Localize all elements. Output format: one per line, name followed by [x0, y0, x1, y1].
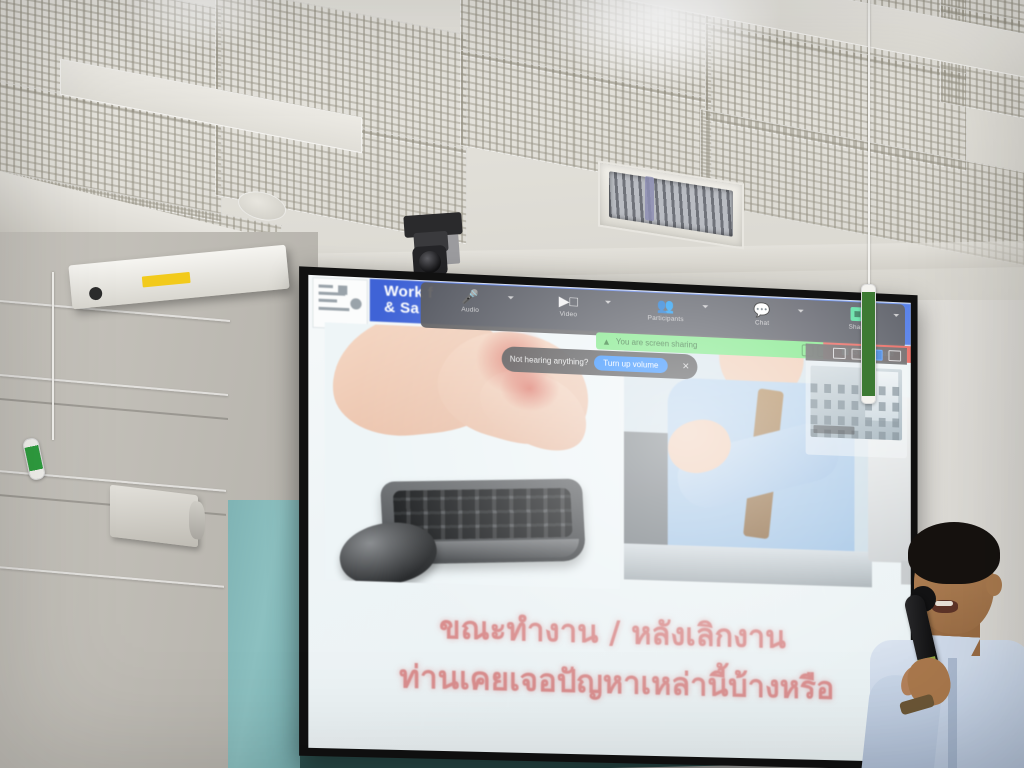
gallery-view-icon[interactable]	[888, 350, 901, 361]
wall-speaker	[110, 485, 198, 548]
chat-icon: 💬	[752, 300, 772, 318]
projector-label	[142, 272, 191, 288]
microphone-icon: 🎤	[460, 287, 480, 305]
chevron-down-icon[interactable]	[507, 296, 513, 299]
tooltip-text: Not hearing anything?	[510, 355, 589, 367]
turn-up-volume-button[interactable]: Turn up volume	[594, 355, 667, 373]
presenter-ear	[986, 574, 1002, 596]
zoom-button-chat[interactable]: 💬 Chat	[714, 299, 810, 329]
zoom-button-chat-label: Chat	[755, 319, 769, 327]
zoom-button-share[interactable]: Share	[810, 303, 905, 333]
people-icon: 👥	[656, 296, 676, 314]
chevron-down-icon[interactable]	[605, 301, 611, 304]
zoom-button-audio-label: Audio	[461, 306, 479, 314]
share-indicator-icon: ▲	[602, 336, 611, 346]
minimize-icon[interactable]	[833, 348, 846, 359]
zoom-button-video[interactable]: ▶□ Video	[519, 290, 617, 321]
projector-lens-icon	[89, 286, 103, 300]
sharing-status-text: You are screen sharing	[616, 337, 697, 350]
projection-screen: Work f & Sa	[308, 275, 910, 762]
zoom-button-participants[interactable]: 👥 Participants	[617, 294, 714, 324]
camera-lens-icon	[419, 251, 441, 273]
camera-icon: ▶□	[558, 291, 578, 309]
chevron-down-icon[interactable]	[893, 314, 899, 317]
screen-pull-cord-left[interactable]	[52, 272, 54, 440]
zoom-button-audio[interactable]: 🎤 Audio	[421, 285, 520, 316]
zoom-button-video-label: Video	[560, 311, 578, 319]
chevron-down-icon[interactable]	[702, 305, 708, 308]
screen-pull-cord-tag-right[interactable]	[861, 284, 876, 404]
close-icon[interactable]: ✕	[682, 361, 689, 372]
video-thumbnail-panel[interactable]	[806, 344, 907, 459]
chevron-down-icon[interactable]	[798, 309, 804, 312]
left-wall	[0, 232, 318, 768]
zoom-button-participants-label: Participants	[648, 315, 684, 324]
video-panel-toolbar[interactable]	[806, 344, 907, 365]
presenter-mouth	[932, 600, 958, 613]
presenter-hair	[908, 522, 1000, 584]
projection-screen-frame: Work f & Sa	[299, 266, 917, 768]
presenter-shirt-placket	[948, 658, 957, 768]
screen-pull-cord-right[interactable]	[868, 0, 870, 288]
video-participant-name	[813, 425, 854, 435]
conference-room-scene: Work f & Sa	[0, 0, 1024, 768]
presenter	[862, 508, 1024, 768]
